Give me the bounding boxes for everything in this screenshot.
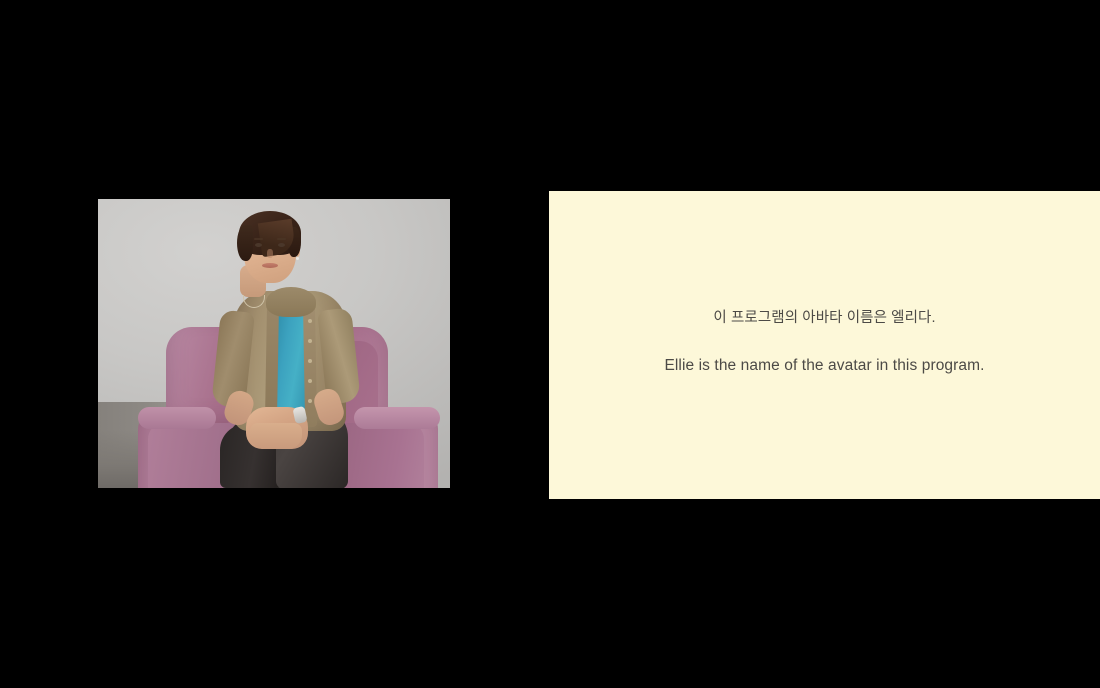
caption-panel: 이 프로그램의 아바타 이름은 엘리다. Ellie is the name o… [549,191,1100,499]
avatar-right-eye [278,243,285,247]
avatar-left-eyebrow [254,238,263,240]
avatar-right-earring [296,257,299,260]
avatar-character [98,199,450,488]
avatar-right-eyebrow [277,238,286,240]
cardigan-button [308,359,312,363]
avatar-hair-left-side [237,225,253,261]
avatar-left-eye [255,243,262,247]
screen-stage: 이 프로그램의 아바타 이름은 엘리다. Ellie is the name o… [0,0,1100,688]
cardigan-collar [266,287,316,317]
caption-english-text: Ellie is the name of the avatar in this … [549,356,1100,377]
avatar-fingers [250,423,302,449]
cardigan-button [308,319,312,323]
cardigan-button [308,379,312,383]
avatar-nose [267,249,273,258]
caption-korean-text: 이 프로그램의 아바타 이름은 엘리다. [549,309,1100,329]
avatar-mouth [262,263,278,268]
avatar-scene-background [98,199,450,488]
avatar-video-panel[interactable] [98,199,450,488]
cardigan-button [308,399,312,403]
cardigan-button [308,339,312,343]
